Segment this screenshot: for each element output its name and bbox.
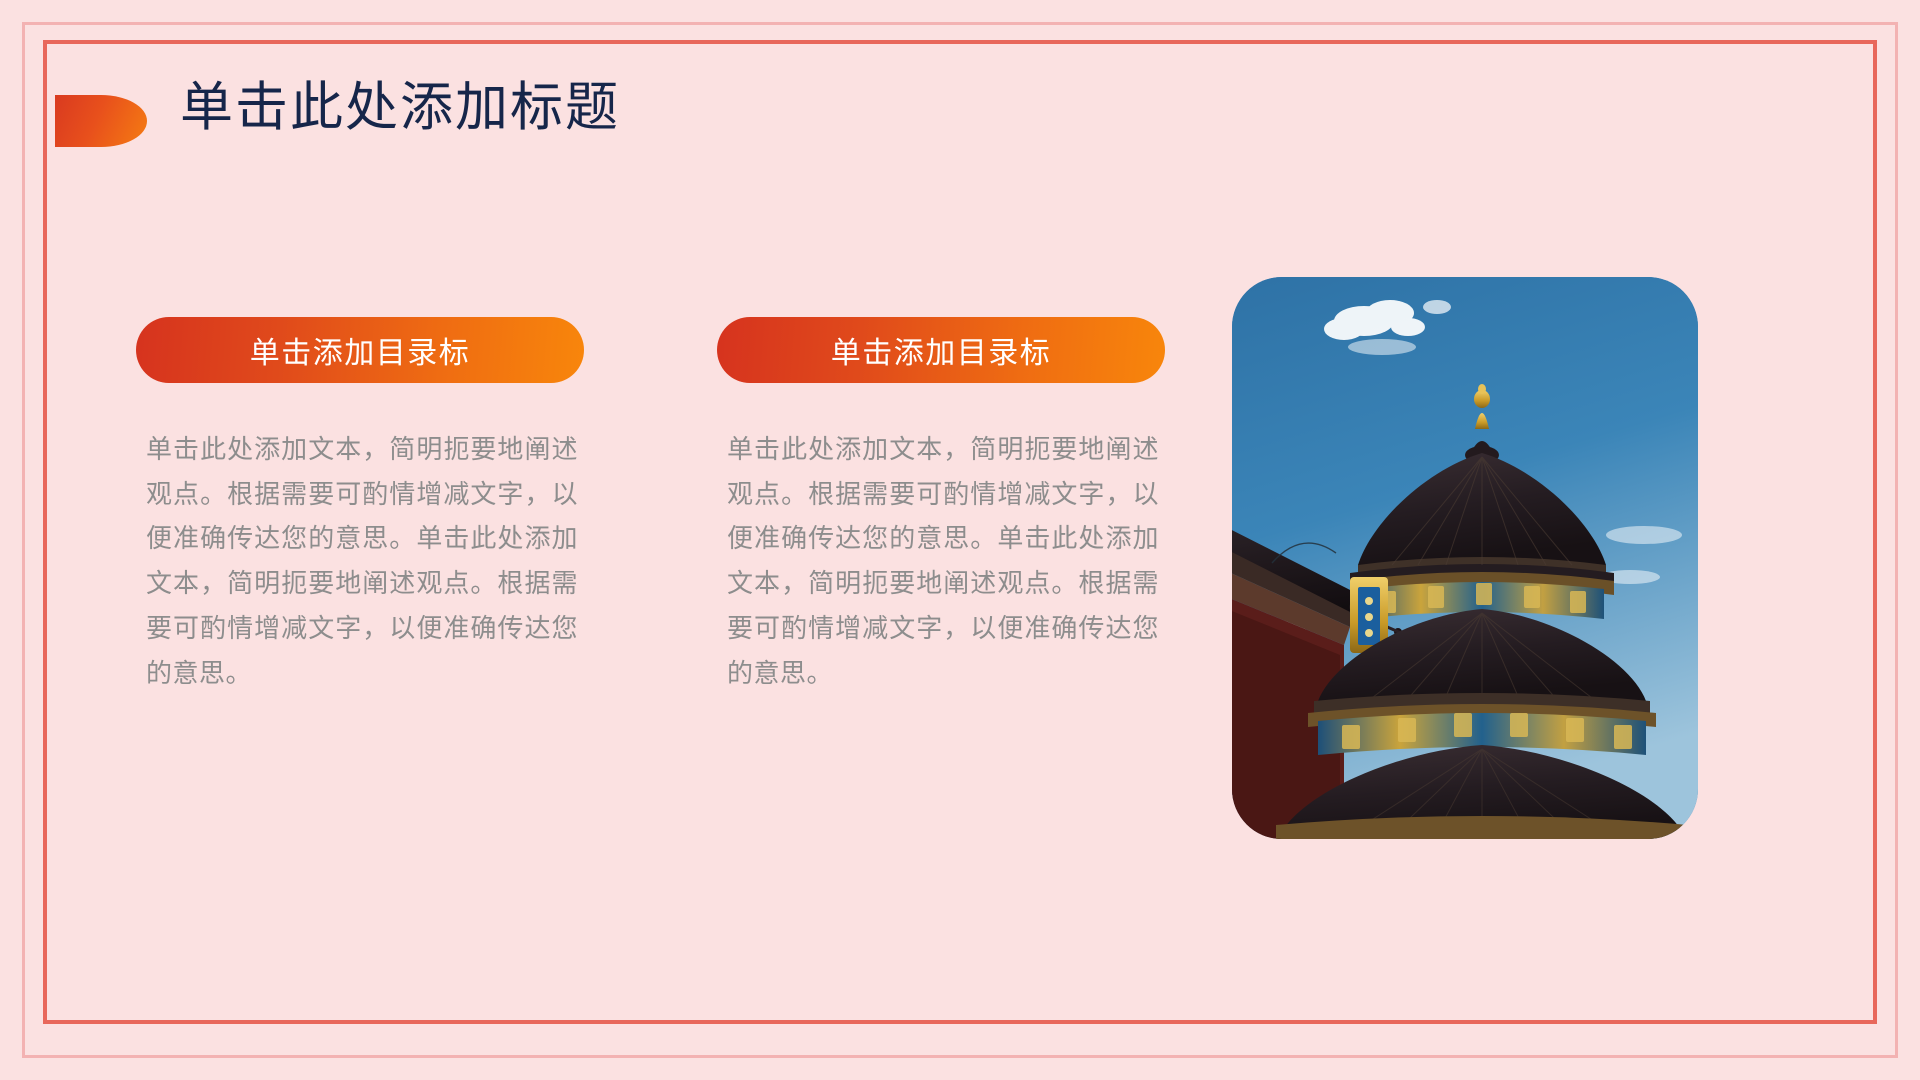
content-column-2: 单击添加目录标 单击此处添加文本，简明扼要地阐述观点。根据需要可酌情增减文字，以… <box>717 317 1165 695</box>
orange-quarter-round-decoration-icon <box>55 95 147 147</box>
page-title: 单击此处添加标题 <box>180 78 620 139</box>
section-heading-pill-1[interactable]: 单击添加目录标 <box>136 317 584 383</box>
temple-of-heaven-illustration <box>1232 277 1698 839</box>
slide-canvas: 单击此处添加标题 单击添加目录标 单击此处添加文本，简明扼要地阐述观点。根据需要… <box>0 0 1920 1080</box>
section-heading-pill-2[interactable]: 单击添加目录标 <box>717 317 1165 383</box>
temple-of-heaven-photo <box>1232 277 1698 839</box>
section-body-text-1: 单击此处添加文本，简明扼要地阐述观点。根据需要可酌情增减文字，以便准确传达您的意… <box>136 427 578 695</box>
section-body-text-2: 单击此处添加文本，简明扼要地阐述观点。根据需要可酌情增减文字，以便准确传达您的意… <box>717 427 1159 695</box>
section-heading-label-1: 单击添加目录标 <box>250 328 471 372</box>
content-columns: 单击添加目录标 单击此处添加文本，简明扼要地阐述观点。根据需要可酌情增减文字，以… <box>136 317 1166 695</box>
section-heading-label-2: 单击添加目录标 <box>831 328 1052 372</box>
content-column-1: 单击添加目录标 单击此处添加文本，简明扼要地阐述观点。根据需要可酌情增减文字，以… <box>136 317 584 695</box>
